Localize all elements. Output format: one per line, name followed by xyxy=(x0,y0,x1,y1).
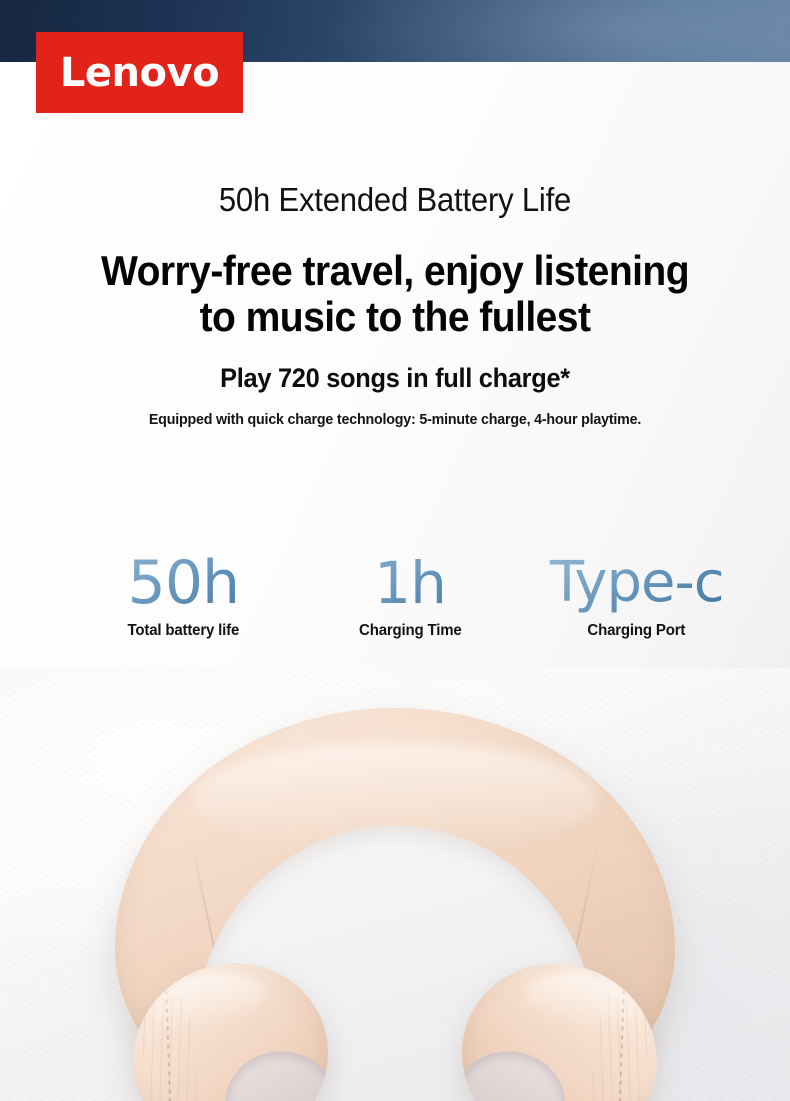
ear-cup-inner-pad xyxy=(450,1044,571,1101)
stats-row: 50h Total battery life 1h Charging Time … xyxy=(70,552,750,667)
stat-label: Charging Time xyxy=(303,622,516,640)
stat-charging-time: 1h Charging Time xyxy=(297,552,524,667)
product-marketing-page: Lenovo 50h Extended Battery Life Worry-f… xyxy=(0,0,790,1101)
stat-value: 50h xyxy=(70,552,297,614)
ear-cup-inner-pad xyxy=(219,1044,340,1101)
headline-line-1: Worry-free travel, enjoy listening xyxy=(28,248,763,294)
lenovo-logo-text: Lenovo xyxy=(60,53,219,93)
stat-value: 1h xyxy=(297,552,524,614)
subheading: Play 720 songs in full charge* xyxy=(24,363,767,394)
main-headline: Worry-free travel, enjoy listening to mu… xyxy=(28,248,763,340)
stat-label: Charging Port xyxy=(530,622,743,640)
stat-charging-port: Type-c Charging Port xyxy=(523,552,750,667)
fine-print: Equipped with quick charge technology: 5… xyxy=(20,411,771,428)
lenovo-logo[interactable]: Lenovo xyxy=(36,32,243,113)
stat-total-battery-life: 50h Total battery life xyxy=(70,552,297,667)
eyebrow-heading: 50h Extended Battery Life xyxy=(24,181,767,219)
headline-line-2: to music to the fullest xyxy=(28,294,763,340)
stat-value: Type-c xyxy=(523,552,750,614)
stat-label: Total battery life xyxy=(77,622,290,640)
product-image xyxy=(0,668,790,1101)
